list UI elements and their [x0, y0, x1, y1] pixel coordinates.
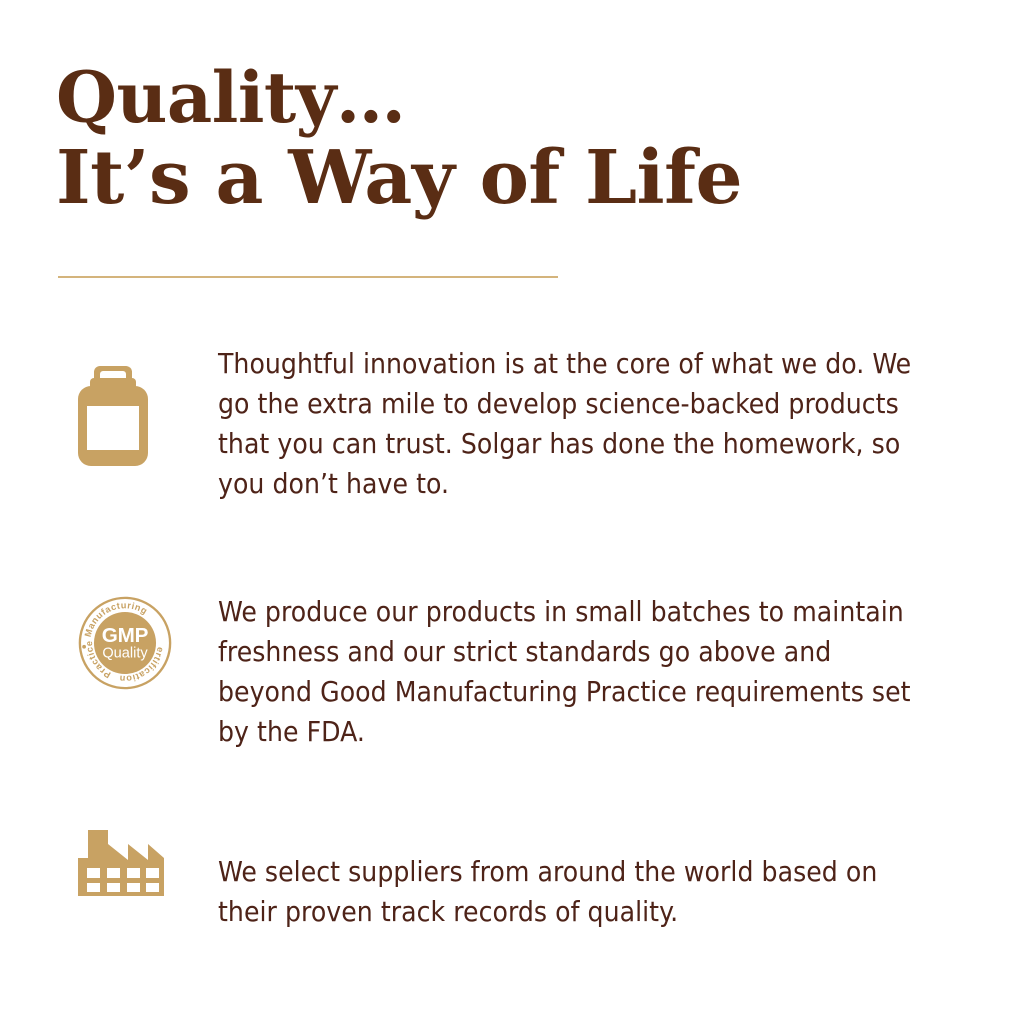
page-title: Quality… It’s a Way of Life	[56, 58, 816, 218]
feature-text-cell: We produce our products in small batches…	[218, 586, 1024, 752]
list-item: Good Manufacturing Certification Practic…	[0, 586, 1024, 752]
factory-icon	[78, 830, 164, 896]
feature-list: Thoughtful innovation is at the core of …	[0, 338, 1024, 932]
feature-description: We select suppliers from around the worl…	[218, 852, 924, 932]
list-item: Thoughtful innovation is at the core of …	[0, 338, 1024, 504]
feature-icon-cell: Good Manufacturing Certification Practic…	[0, 586, 218, 690]
feature-description: Thoughtful innovation is at the core of …	[218, 344, 924, 504]
gold-divider-rule	[58, 276, 558, 278]
headline-line-1: Quality…	[56, 58, 816, 138]
headline-line-2: It’s a Way of Life	[56, 138, 816, 218]
feature-text-cell: We select suppliers from around the worl…	[218, 830, 1024, 932]
feature-icon-cell	[0, 830, 218, 896]
seal-center-line-1: GMP	[102, 624, 149, 647]
feature-text-cell: Thoughtful innovation is at the core of …	[218, 338, 1024, 504]
supplement-bottle-icon	[78, 366, 148, 466]
seal-center-line-2: Quality	[102, 646, 148, 662]
list-item: We select suppliers from around the worl…	[0, 830, 1024, 932]
feature-description: We produce our products in small batches…	[218, 592, 924, 752]
gmp-quality-seal-icon: Good Manufacturing Certification Practic…	[78, 596, 172, 690]
feature-icon-cell	[0, 338, 218, 466]
quality-promo-page: Quality… It’s a Way of Life Thoug	[0, 0, 1024, 1024]
